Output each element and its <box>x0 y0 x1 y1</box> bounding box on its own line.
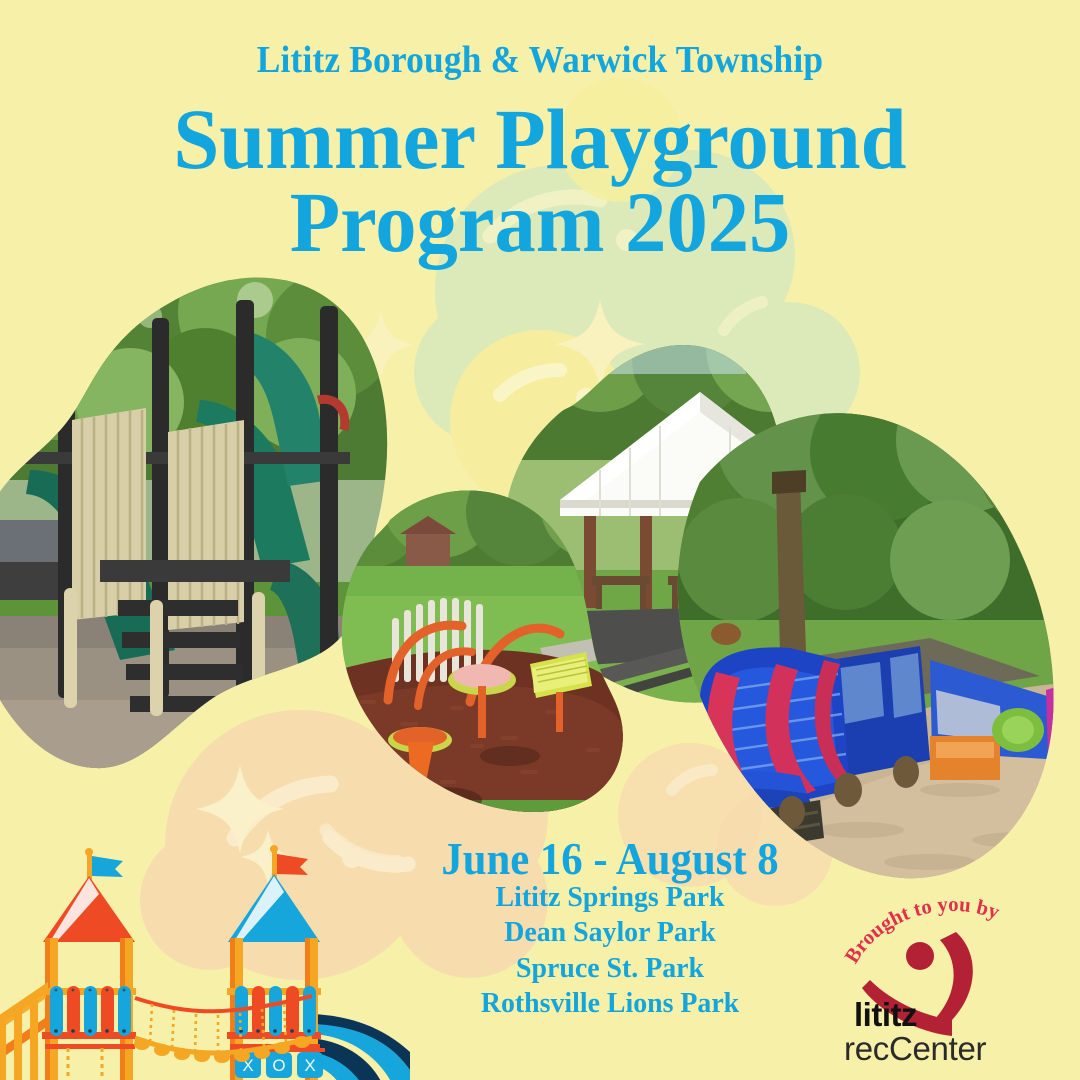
playground-structure-photo <box>0 240 400 802</box>
figure-head-icon <box>906 942 934 970</box>
ttt-cell: O <box>272 1056 285 1075</box>
flag-right-icon <box>277 854 308 875</box>
flag-left-icon <box>92 856 123 877</box>
header-subtitle: Lititz Borough & Warwick Township <box>38 38 1042 82</box>
page-title: Summer Playground Program 2025 <box>22 98 1059 263</box>
logo-name: lititz <box>854 996 917 1034</box>
playground-castle-illustration: X O X <box>0 838 410 1080</box>
title-line-1: Summer Playground <box>173 91 906 187</box>
ttt-cell: X <box>304 1056 315 1075</box>
figure-body-swoosh-icon <box>934 932 973 1020</box>
lititz-rec-center-logo: Brought to you by lititz recCenter <box>828 884 1074 1074</box>
rope-bridge <box>134 996 312 1063</box>
title-line-2: Program 2025 <box>22 181 1059 264</box>
stair-rail-left <box>0 982 48 1080</box>
tower-left <box>42 848 136 1080</box>
baluster-group-left <box>50 986 131 1036</box>
baluster-group-right <box>235 986 316 1036</box>
logo-subname: recCenter <box>844 1030 986 1068</box>
poster-canvas: Lititz Borough & Warwick Township Summer… <box>0 0 1080 1080</box>
